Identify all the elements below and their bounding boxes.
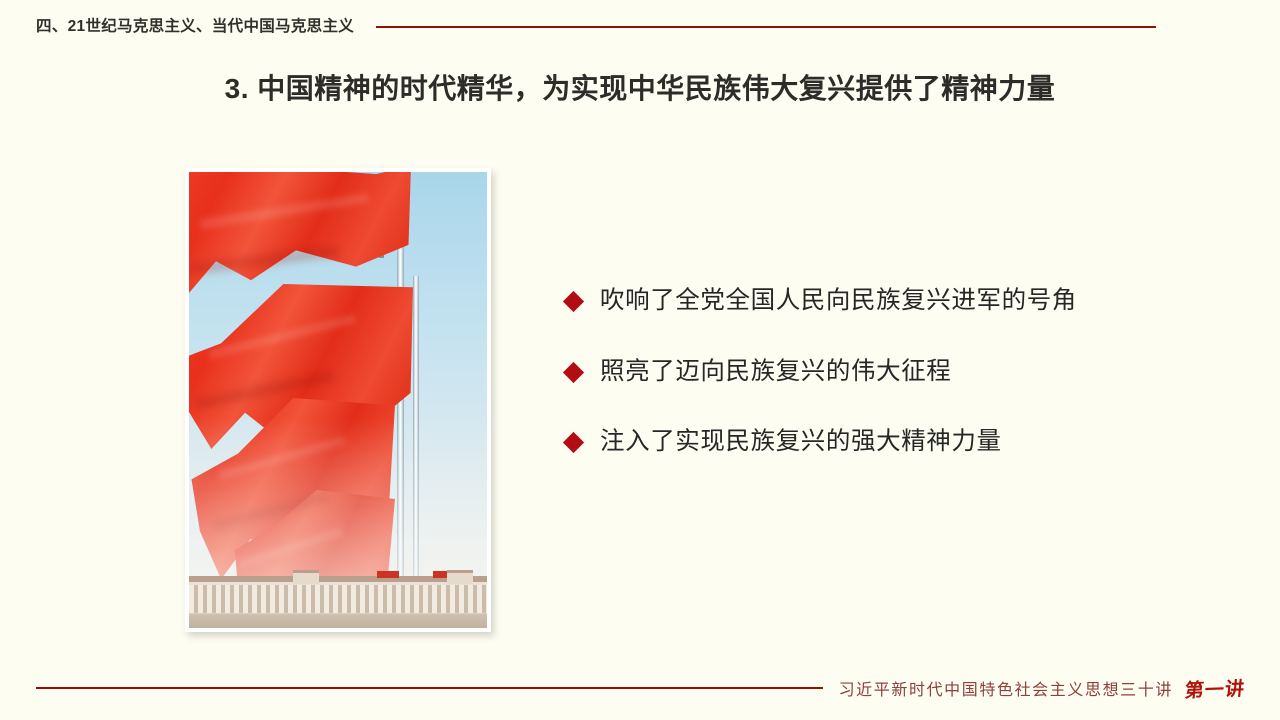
page-title: 3. 中国精神的时代精华，为实现中华民族伟大复兴提供了精神力量 (0, 72, 1280, 106)
building-tower (293, 570, 319, 584)
footer-divider-rule (36, 687, 823, 689)
list-item: 照亮了迈向民族复兴的伟大征程 (566, 357, 1226, 388)
list-item-label: 吹响了全党全国人民向民族复兴进军的号角 (600, 286, 1077, 317)
bullet-list: 吹响了全党全国人民向民族复兴进军的号角 照亮了迈向民族复兴的伟大征程 注入了实现… (566, 286, 1226, 458)
list-item-label: 照亮了迈向民族复兴的伟大征程 (600, 357, 951, 388)
red-flags-photo (189, 172, 487, 628)
building-red-banner (433, 571, 447, 578)
building-tower (447, 570, 473, 584)
section-label: 四、21世纪马克思主义、当代中国马克思主义 (36, 19, 354, 35)
footer-series-title: 习近平新时代中国特色社会主义思想三十讲 (839, 676, 1173, 700)
background-building (189, 576, 487, 628)
diamond-bullet-icon (563, 291, 584, 312)
header-divider-rule (376, 26, 1156, 28)
diamond-bullet-icon (563, 362, 584, 383)
diamond-bullet-icon (563, 432, 584, 453)
list-item: 吹响了全党全国人民向民族复兴进军的号角 (566, 286, 1226, 317)
slide-footer: 习近平新时代中国特色社会主义思想三十讲 第一讲 (0, 670, 1280, 706)
building-red-banner (377, 571, 399, 578)
lecture-badge: 第一讲 (1184, 673, 1247, 702)
photo-frame (185, 168, 491, 632)
list-item: 注入了实现民族复兴的强大精神力量 (566, 427, 1226, 458)
slide-header: 四、21世纪马克思主义、当代中国马克思主义 (0, 12, 1280, 42)
slide-canvas: 四、21世纪马克思主义、当代中国马克思主义 3. 中国精神的时代精华，为实现中华… (0, 0, 1280, 720)
list-item-label: 注入了实现民族复兴的强大精神力量 (600, 427, 1002, 458)
building-columns (189, 585, 487, 613)
building-base (189, 614, 487, 628)
red-flag (189, 172, 411, 302)
